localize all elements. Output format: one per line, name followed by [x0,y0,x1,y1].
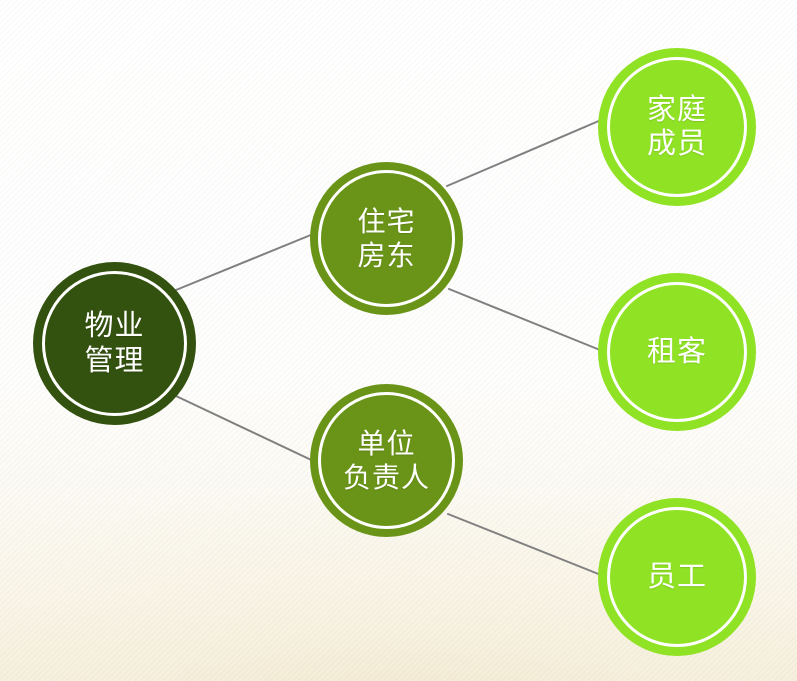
node-label: 物业 管理 [84,309,144,377]
node-label: 单位 负责人 [343,427,430,493]
node-tenant[interactable]: 租客 [598,273,756,431]
node-unit-manager[interactable]: 单位 负责人 [310,384,463,537]
node-label: 员工 [647,560,707,594]
node-employee[interactable]: 员工 [598,498,756,656]
node-label: 家庭 成员 [647,93,707,161]
diagram-canvas: 物业 管理 住宅 房东 单位 负责人 家庭 成员 租客 员工 [0,0,797,681]
node-layer: 物业 管理 住宅 房东 单位 负责人 家庭 成员 租客 员工 [0,0,797,681]
node-label: 住宅 房东 [357,205,415,271]
node-property-management[interactable]: 物业 管理 [33,262,196,425]
node-residential-landlord[interactable]: 住宅 房东 [310,162,463,315]
node-family-member[interactable]: 家庭 成员 [598,48,756,206]
node-label: 租客 [647,335,707,369]
